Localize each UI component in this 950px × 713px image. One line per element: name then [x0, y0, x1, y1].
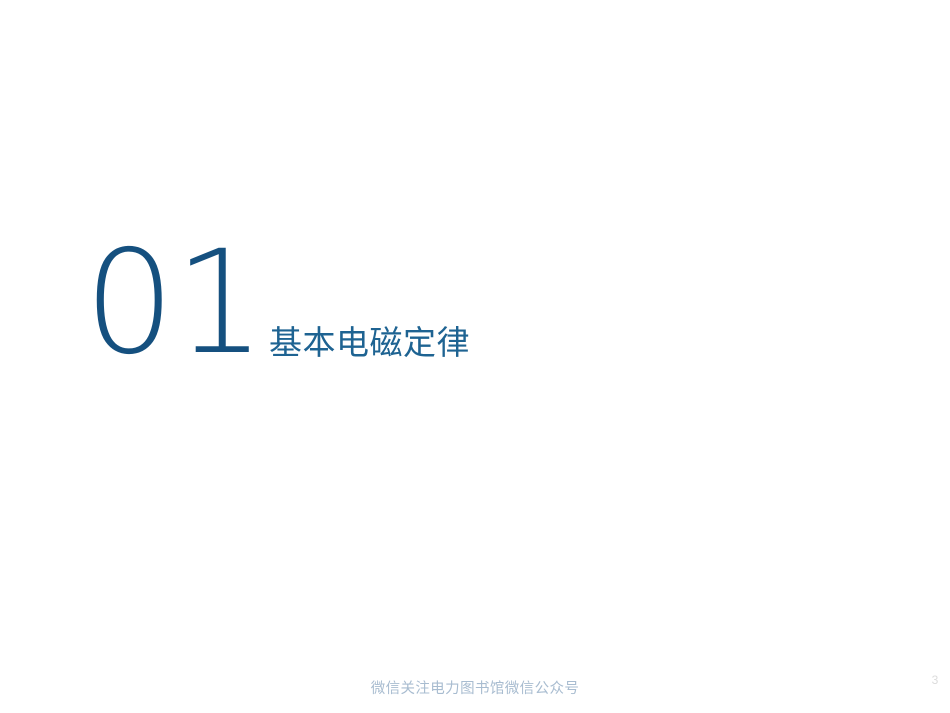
- footer-watermark: 微信关注电力图书馆微信公众号: [0, 682, 950, 698]
- section-title: 基本电磁定律: [269, 326, 470, 359]
- page-number: 3: [928, 674, 942, 686]
- slide-canvas: 01 基本电磁定律 微信关注电力图书馆微信公众号 3: [0, 0, 950, 713]
- section-heading: 01 基本电磁定律: [84, 242, 466, 365]
- section-number: 01: [84, 242, 265, 365]
